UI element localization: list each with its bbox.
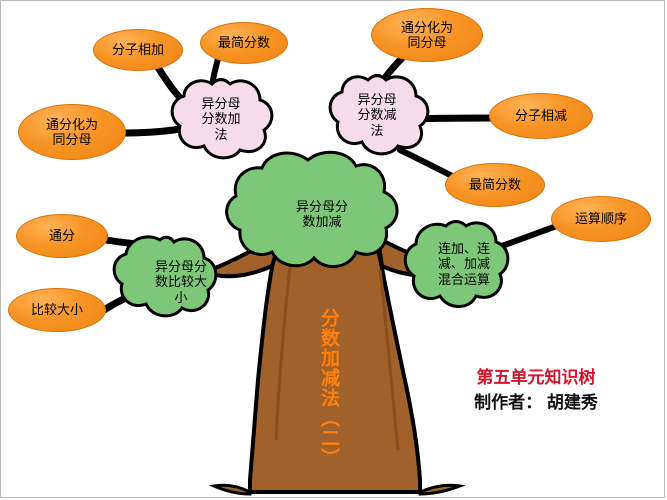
cluster-left-green-label: 异分母分 数比较大 小 (155, 259, 207, 305)
bubble-common-denom-top-right-label: 通分化为 同分母 (401, 20, 453, 51)
bubble-compare-size-label: 比较大小 (31, 302, 83, 317)
cluster-add-pink-label: 异分母 分数加 法 (201, 96, 240, 142)
bubble-common-denom-left-label: 通分化为 同分母 (46, 117, 98, 148)
cluster-sub-pink-label: 异分母 分数减 法 (357, 92, 396, 138)
bubble-common-denom-top-right[interactable]: 通分化为 同分母 (371, 8, 483, 62)
cluster-center-green-label: 异分母分 数加减 (296, 199, 348, 230)
bubble-order-of-ops-label: 运算顺序 (575, 211, 627, 226)
knowledge-tree-diagram: 分子相加 最简分数 通分化为 同分母 通分化为 同分母 分子相减 最简分数 运算… (0, 0, 667, 500)
bubble-simplest-right-label: 最简分数 (469, 177, 521, 192)
bubble-common-denom-left[interactable]: 通分化为 同分母 (18, 104, 126, 160)
bubble-numerator-add-label: 分子相加 (112, 42, 164, 57)
bubble-common-denom-label: 通分 (49, 228, 75, 243)
cluster-sub-pink[interactable]: 异分母 分数减 法 (346, 86, 408, 144)
bubble-numerator-add[interactable]: 分子相加 (93, 29, 183, 71)
bubble-simplest-top-label: 最简分数 (218, 35, 270, 50)
bubble-numerator-sub-label: 分子相减 (515, 108, 567, 123)
bubble-simplest-top[interactable]: 最简分数 (200, 22, 288, 64)
bubble-numerator-sub[interactable]: 分子相减 (489, 93, 593, 139)
cluster-left-green[interactable]: 异分母分 数比较大 小 (142, 253, 220, 311)
cluster-center-green[interactable]: 异分母分 数加减 (283, 193, 361, 235)
cluster-right-green[interactable]: 连加、连 减、加减 混合运算 (423, 234, 505, 294)
bubble-order-of-ops[interactable]: 运算顺序 (551, 196, 651, 242)
page-title: 分数加减法（二） (305, 295, 339, 480)
bubble-compare-size[interactable]: 比较大小 (8, 288, 106, 332)
credit-line-2: 制作者： 胡建秀 (418, 391, 654, 416)
bubble-common-denom[interactable]: 通分 (16, 214, 108, 258)
cluster-add-pink[interactable]: 异分母 分数加 法 (190, 90, 252, 148)
cluster-right-green-label: 连加、连 减、加减 混合运算 (438, 241, 490, 287)
credit-line-1: 第五单元知识树 (418, 366, 654, 391)
credit-block: 第五单元知识树 制作者： 胡建秀 (418, 366, 654, 415)
bubble-simplest-right[interactable]: 最简分数 (445, 163, 545, 207)
